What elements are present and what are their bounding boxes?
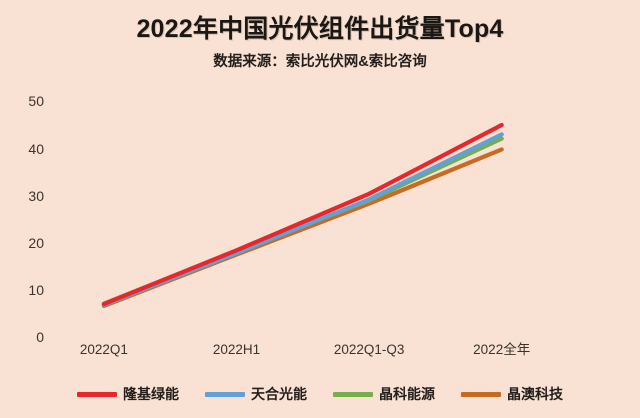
plot-area xyxy=(58,92,568,337)
y-axis: 50403020100 xyxy=(0,92,52,337)
series-line xyxy=(104,125,502,304)
legend-item[interactable]: 隆基绿能 xyxy=(77,386,179,402)
x-axis-tick-label: 2022全年 xyxy=(473,342,530,358)
y-axis-tick-label: 30 xyxy=(28,189,44,203)
x-axis-tick-label: 2022Q1-Q3 xyxy=(334,342,405,358)
legend-color-swatch xyxy=(205,392,245,397)
legend-item[interactable]: 晶澳科技 xyxy=(461,386,563,402)
legend-label: 晶澳科技 xyxy=(507,386,563,402)
legend-color-swatch xyxy=(461,392,501,397)
y-axis-tick-label: 10 xyxy=(28,283,44,297)
chart-subtitle: 数据来源：索比光伏网&索比咨询 xyxy=(0,53,640,71)
page-title: 2022年中国光伏组件出货量Top4 xyxy=(0,14,640,44)
chart-legend: 隆基绿能天合光能晶科能源晶澳科技 xyxy=(0,386,640,402)
legend-label: 隆基绿能 xyxy=(123,386,179,402)
legend-item[interactable]: 天合光能 xyxy=(205,386,307,402)
y-axis-tick-label: 50 xyxy=(28,94,44,108)
legend-color-swatch xyxy=(333,392,373,397)
legend-label: 晶科能源 xyxy=(379,386,435,402)
y-axis-tick-label: 0 xyxy=(36,330,44,344)
y-axis-tick-label: 40 xyxy=(28,142,44,156)
line-chart-svg xyxy=(58,92,568,337)
y-axis-tick-label: 20 xyxy=(28,236,44,250)
legend-item[interactable]: 晶科能源 xyxy=(333,386,435,402)
x-axis: 2022Q12022H12022Q1-Q32022全年 xyxy=(58,342,568,364)
legend-color-swatch xyxy=(77,392,117,397)
legend-label: 天合光能 xyxy=(251,386,307,402)
chart-container: 2022年中国光伏组件出货量Top4 数据来源：索比光伏网&索比咨询 50403… xyxy=(0,0,640,418)
x-axis-tick-label: 2022Q1 xyxy=(80,342,128,358)
x-axis-tick-label: 2022H1 xyxy=(213,342,260,358)
title-block: 2022年中国光伏组件出货量Top4 数据来源：索比光伏网&索比咨询 xyxy=(0,14,640,71)
